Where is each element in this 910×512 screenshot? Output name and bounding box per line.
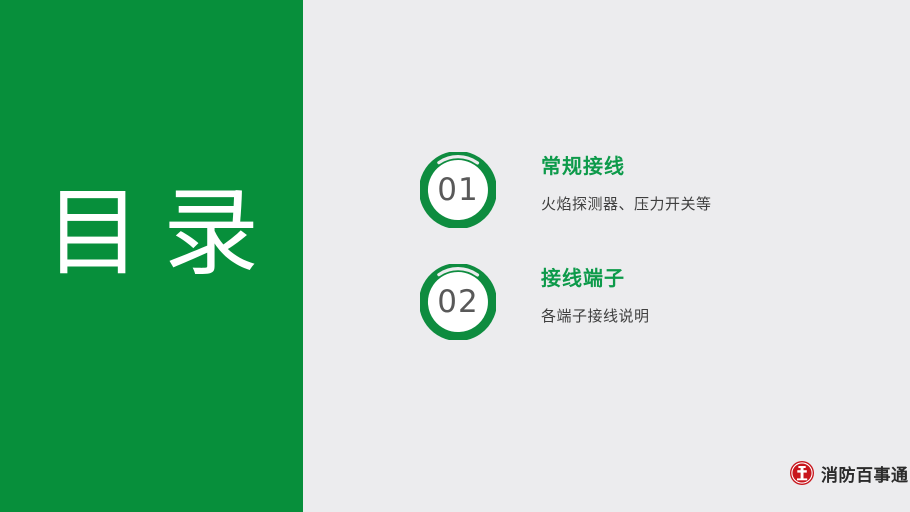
toc-text-01: 常规接线 火焰探测器、压力开关等 [541, 154, 712, 215]
toc-subtitle-02: 各端子接线说明 [541, 307, 650, 327]
toc-subtitle-01: 火焰探测器、压力开关等 [541, 195, 712, 215]
footer-logo[interactable]: 消防百事通 [789, 460, 909, 486]
title-panel: 目录 [0, 0, 303, 512]
toc-item-01[interactable]: 01 常规接线 火焰探测器、压力开关等 [420, 152, 890, 264]
number-badge-label-01: 01 [420, 152, 496, 228]
toc-item-02[interactable]: 02 接线端子 各端子接线说明 [420, 264, 890, 376]
table-of-contents: 01 常规接线 火焰探测器、压力开关等 02 接线端子 各端子接线说明 [420, 152, 890, 376]
toc-heading-01: 常规接线 [541, 154, 712, 180]
fire-hydrant-circle-icon [789, 460, 815, 486]
toc-heading-02: 接线端子 [541, 266, 650, 292]
number-badge-label-02: 02 [420, 264, 496, 340]
number-badge-02: 02 [420, 264, 496, 340]
page-title: 目录 [45, 178, 280, 288]
number-badge-01: 01 [420, 152, 496, 228]
toc-text-02: 接线端子 各端子接线说明 [541, 266, 650, 327]
brand-name: 消防百事通 [821, 461, 909, 486]
